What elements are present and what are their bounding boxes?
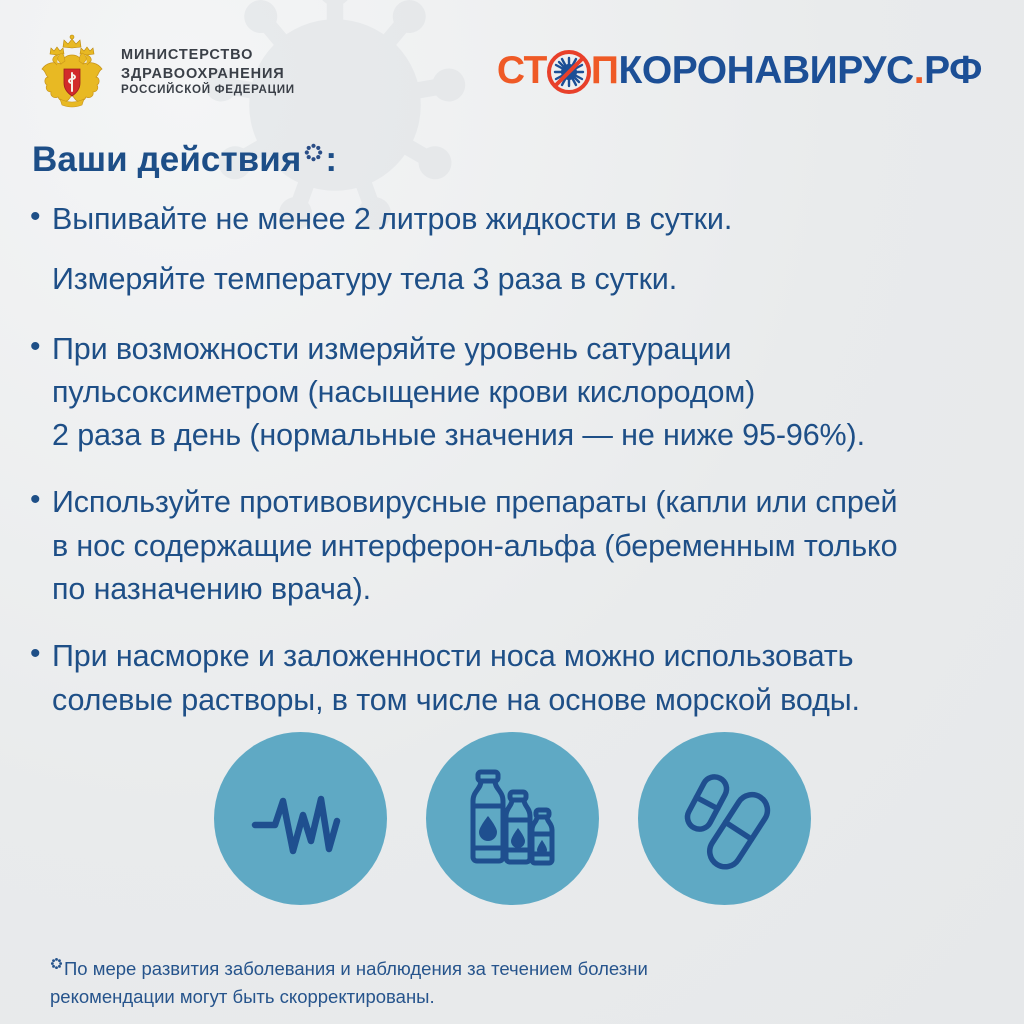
logo-part-p: П [591,49,619,93]
ministry-line-3: РОССИЙСКОЙ ФЕДЕРАЦИИ [121,83,295,98]
no-virus-icon [546,49,592,95]
icon-circle-pulse [214,732,387,905]
stopcoronavirus-logo[interactable]: СТ [497,48,982,94]
list-line: по назначению врача). [52,568,1005,611]
list-item-lines: При возможности измеряйте уровень сатура… [52,328,1005,458]
bullet-marker: • [30,198,52,241]
list-item-lines: Используйте противовирусные препараты (к… [52,481,1005,611]
bullet-marker: • [30,258,52,301]
footnote-line-2: рекомендации могут быть скорректированы. [50,983,950,1011]
logo-part-coronavirus: КОРОНАВИРУС [618,49,913,93]
list-item-lines: Измеряйте температуру тела 3 раза в сутк… [52,258,1005,301]
list-item: • Выпивайте не менее 2 литров жидкости в… [30,198,1005,241]
actions-list: • Выпивайте не менее 2 литров жидкости в… [30,198,1005,739]
list-item-lines: При насморке и заложенности носа можно и… [52,635,1005,722]
russian-coat-of-arms-emblem [36,33,108,111]
virus-asterisk-icon [303,142,324,163]
icon-circles-row [0,732,1024,907]
bullet-marker: • [30,635,52,722]
logo-part-rf: РФ [924,49,982,93]
list-line: в нос содержащие интерферон-альфа (берем… [52,525,1005,568]
icon-circle-water [426,732,599,905]
pulse-waveform-icon [249,775,353,863]
footnote-line-1: По мере развития заболевания и наблюдени… [64,958,648,979]
bullet-marker: • [30,328,52,458]
list-line: Выпивайте не менее 2 литров жидкости в с… [52,198,1005,241]
list-line: Используйте противовирусные препараты (к… [52,481,1005,524]
capsule-pills-icon [673,767,777,871]
ministry-line-1: МИНИСТЕРСТВО [121,46,295,64]
page-title-colon: : [325,140,337,180]
footnote: По мере развития заболевания и наблюдени… [50,955,950,1011]
poster-root: МИНИСТЕРСТВО ЗДРАВООХРАНЕНИЯ РОССИЙСКОЙ … [0,0,1024,1024]
list-line: 2 раза в день (нормальные значения — не … [52,414,1005,457]
header: МИНИСТЕРСТВО ЗДРАВООХРАНЕНИЯ РОССИЙСКОЙ … [0,0,1024,130]
water-bottles-icon [460,766,566,872]
list-item-lines: Выпивайте не менее 2 литров жидкости в с… [52,198,1005,241]
list-line: Измеряйте температуру тела 3 раза в сутк… [52,258,1005,301]
list-item: • При насморке и заложенности носа можно… [30,635,1005,722]
list-line: пульсоксиметром (насыщение крови кислоро… [52,371,1005,414]
list-item: • При возможности измеряйте уровень сату… [30,328,1005,458]
logo-part-st: СТ [497,49,547,93]
icon-circle-pills [638,732,811,905]
list-item: • Используйте противовирусные препараты … [30,481,1005,611]
footnote-line-1-wrap: По мере развития заболевания и наблюдени… [50,955,950,983]
ministry-line-2: ЗДРАВООХРАНЕНИЯ [121,65,295,83]
bullet-marker: • [30,481,52,611]
logo-part-dot: . [914,49,924,93]
ministry-logo: МИНИСТЕРСТВО ЗДРАВООХРАНЕНИЯ РОССИЙСКОЙ … [36,33,295,111]
page-title-text: Ваши действия [32,140,301,180]
list-line: При возможности измеряйте уровень сатура… [52,328,1005,371]
ministry-text-block: МИНИСТЕРСТВО ЗДРАВООХРАНЕНИЯ РОССИЙСКОЙ … [121,46,295,97]
virus-asterisk-icon [50,957,63,970]
list-line: солевые растворы, в том числе на основе … [52,679,1005,722]
list-item: • Измеряйте температуру тела 3 раза в су… [30,258,1005,301]
list-line: При насморке и заложенности носа можно и… [52,635,1005,678]
page-title: Ваши действия : [32,140,337,180]
